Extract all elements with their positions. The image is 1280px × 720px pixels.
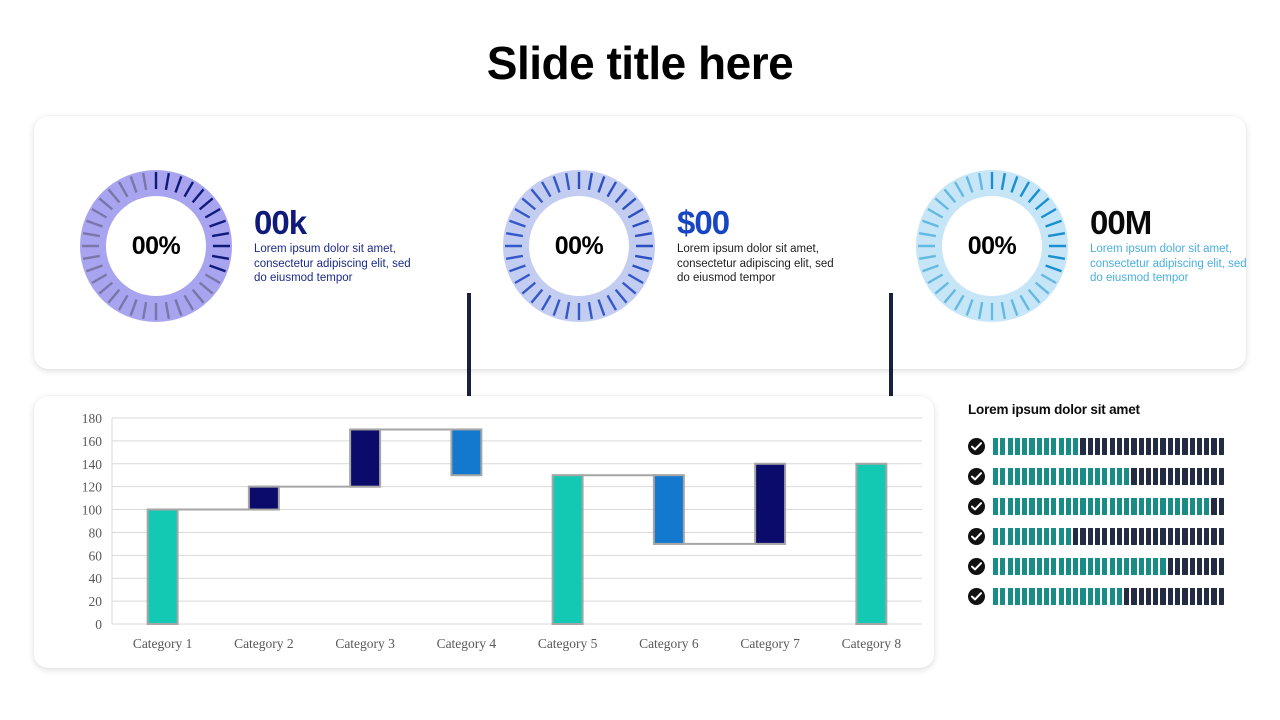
progress-segment: [993, 498, 998, 515]
y-axis-tick-label: 100: [82, 503, 103, 518]
x-axis-tick-label: Category 4: [437, 636, 497, 651]
progress-segment: [1153, 528, 1158, 545]
progress-segment: [1015, 498, 1020, 515]
progress-segment: [1175, 468, 1180, 485]
progress-segment: [1204, 528, 1209, 545]
progress-segment: [1073, 558, 1078, 575]
donut-percent-2: 00%: [499, 166, 659, 326]
progress-segment: [1153, 498, 1158, 515]
progress-segment: [1131, 498, 1136, 515]
progress-segment: [1139, 528, 1144, 545]
progress-segment: [1088, 558, 1093, 575]
progress-segment: [1029, 498, 1034, 515]
progress-segment: [1095, 528, 1100, 545]
progress-segment: [1022, 528, 1027, 545]
y-axis-tick-label: 40: [89, 571, 103, 586]
list-item[interactable]: [968, 581, 1224, 611]
progress-segment: [1168, 588, 1173, 605]
progress-segment: [1066, 588, 1071, 605]
progress-segment: [1139, 498, 1144, 515]
progress-segment: [1139, 588, 1144, 605]
progress-segment: [1160, 498, 1165, 515]
progress-segment: [1015, 468, 1020, 485]
progress-segment: [1015, 558, 1020, 575]
progress-segment: [993, 528, 998, 545]
list-item[interactable]: [968, 431, 1224, 461]
check-circle-icon: [968, 528, 985, 545]
progress-segment: [1175, 588, 1180, 605]
progress-segment: [1000, 558, 1005, 575]
progress-segment: [1182, 588, 1187, 605]
progress-segment: [1029, 438, 1034, 455]
progress-segment: [1051, 588, 1056, 605]
waterfall-chart[interactable]: 020406080100120140160180 Category 1Categ…: [34, 396, 934, 668]
progress-segment: [1022, 558, 1027, 575]
progress-segment: [1197, 588, 1202, 605]
progress-segment: [1124, 588, 1129, 605]
progress-segment: [1190, 528, 1195, 545]
progress-segment: [1146, 438, 1151, 455]
list-panel: Lorem ipsum dolor sit amet: [968, 402, 1224, 611]
progress-segment: [1211, 498, 1216, 515]
progress-segment: [1102, 438, 1107, 455]
progress-segment: [1204, 498, 1209, 515]
progress-segment: [1044, 588, 1049, 605]
progress-segment: [1160, 438, 1165, 455]
progress-segment: [1131, 468, 1136, 485]
progress-segment: [1066, 468, 1071, 485]
progress-segment: [1008, 438, 1013, 455]
donut-gauge-2: 00%: [499, 166, 659, 326]
progress-bar-track[interactable]: [993, 558, 1224, 575]
progress-segment: [1088, 588, 1093, 605]
progress-segment: [1088, 438, 1093, 455]
progress-segment: [1044, 438, 1049, 455]
x-axis-tick-label: Category 6: [639, 636, 699, 651]
chart-bar[interactable]: [148, 510, 178, 624]
progress-segment: [1051, 558, 1056, 575]
progress-segment: [1190, 498, 1195, 515]
progress-segment: [1139, 558, 1144, 575]
kpi-desc-1: Lorem ipsum dolor sit amet, consectetur …: [254, 242, 424, 286]
kpi-text-3: 00M Lorem ipsum dolor sit amet, consecte…: [1090, 206, 1260, 286]
progress-segment: [1182, 438, 1187, 455]
progress-segment: [1008, 498, 1013, 515]
progress-segment: [1182, 558, 1187, 575]
progress-segment: [1008, 558, 1013, 575]
progress-segment: [1080, 438, 1085, 455]
progress-segment: [1211, 558, 1216, 575]
progress-segment: [1059, 438, 1064, 455]
kpi-card: 00% 00k Lorem ipsum dolor sit amet, cons…: [34, 116, 1246, 369]
list-item[interactable]: [968, 551, 1224, 581]
progress-segment: [1066, 528, 1071, 545]
progress-segment: [1124, 468, 1129, 485]
donut-gauge-3: 00%: [912, 166, 1072, 326]
check-circle-icon: [968, 558, 985, 575]
progress-segment: [1197, 468, 1202, 485]
donut-percent-1: 00%: [76, 166, 236, 326]
progress-segment: [1044, 558, 1049, 575]
progress-segment: [1204, 468, 1209, 485]
progress-segment: [1175, 438, 1180, 455]
progress-segment: [1008, 468, 1013, 485]
progress-segment: [1175, 528, 1180, 545]
progress-segment: [1037, 588, 1042, 605]
progress-segment: [1160, 558, 1165, 575]
progress-segment: [1124, 438, 1129, 455]
progress-segment: [1211, 588, 1216, 605]
y-axis-tick-label: 180: [82, 411, 103, 426]
progress-segment: [1000, 438, 1005, 455]
chart-bar[interactable]: [451, 429, 481, 475]
progress-segment: [1066, 438, 1071, 455]
progress-segment: [1211, 438, 1216, 455]
x-axis-tick-label: Category 5: [538, 636, 598, 651]
progress-segment: [993, 558, 998, 575]
progress-segment: [1059, 558, 1064, 575]
kpi-value-2: $00: [677, 206, 847, 239]
list-item[interactable]: [968, 521, 1224, 551]
progress-segment: [1008, 588, 1013, 605]
progress-segment: [1088, 528, 1093, 545]
progress-segment: [1066, 558, 1071, 575]
check-circle-icon: [968, 438, 985, 455]
progress-segment: [1073, 498, 1078, 515]
progress-segment: [1095, 588, 1100, 605]
y-axis-tick-label: 80: [89, 525, 103, 540]
y-axis-tick-label: 60: [89, 548, 103, 563]
progress-segment: [1015, 588, 1020, 605]
progress-segment: [993, 588, 998, 605]
progress-bar-track[interactable]: [993, 468, 1224, 485]
chart-yaxis-labels: 020406080100120140160180: [82, 411, 103, 632]
progress-segment: [1117, 588, 1122, 605]
donut-percent-3: 00%: [912, 166, 1072, 326]
progress-segment: [1190, 468, 1195, 485]
progress-segment: [1131, 438, 1136, 455]
chart-bar[interactable]: [654, 475, 684, 544]
kpi-desc-3: Lorem ipsum dolor sit amet, consectetur …: [1090, 242, 1260, 286]
chart-bar[interactable]: [249, 487, 279, 510]
progress-segment: [1015, 438, 1020, 455]
progress-segment: [1000, 468, 1005, 485]
progress-segment: [1000, 528, 1005, 545]
progress-segment: [1080, 558, 1085, 575]
progress-segment: [1211, 468, 1216, 485]
progress-bar-track[interactable]: [993, 438, 1224, 455]
kpi-text-1: 00k Lorem ipsum dolor sit amet, consecte…: [254, 206, 424, 286]
progress-segment: [1219, 588, 1224, 605]
progress-segment: [1095, 438, 1100, 455]
progress-segment: [1131, 528, 1136, 545]
progress-segment: [1008, 528, 1013, 545]
progress-segment: [1219, 498, 1224, 515]
chart-bar[interactable]: [350, 429, 380, 486]
progress-segment: [1197, 498, 1202, 515]
progress-segment: [1037, 498, 1042, 515]
progress-segment: [1080, 528, 1085, 545]
chart-gridlines: [112, 418, 922, 624]
progress-segment: [1037, 438, 1042, 455]
progress-segment: [1219, 468, 1224, 485]
progress-segment: [1204, 438, 1209, 455]
kpi-desc-2: Lorem ipsum dolor sit amet, consectetur …: [677, 242, 847, 286]
progress-segment: [1110, 588, 1115, 605]
progress-segment: [1117, 528, 1122, 545]
progress-segment: [1190, 588, 1195, 605]
progress-segment: [1037, 468, 1042, 485]
progress-segment: [1168, 438, 1173, 455]
progress-segment: [1029, 528, 1034, 545]
progress-segment: [1066, 498, 1071, 515]
progress-segment: [1219, 528, 1224, 545]
progress-segment: [1117, 468, 1122, 485]
progress-segment: [1146, 468, 1151, 485]
progress-segment: [1044, 528, 1049, 545]
progress-segment: [1153, 438, 1158, 455]
progress-segment: [1168, 528, 1173, 545]
progress-segment: [1080, 468, 1085, 485]
progress-bar-track[interactable]: [993, 588, 1224, 605]
progress-segment: [1044, 468, 1049, 485]
progress-segment: [1088, 498, 1093, 515]
progress-segment: [1051, 528, 1056, 545]
x-axis-tick-label: Category 2: [234, 636, 294, 651]
slide-root: Slide title here 00% 00k Lorem ipsum dol…: [0, 0, 1280, 720]
progress-segment: [1211, 528, 1216, 545]
donut-gauge-1: 00%: [76, 166, 236, 326]
progress-segment: [993, 438, 998, 455]
progress-segment: [1117, 438, 1122, 455]
progress-segment: [1037, 558, 1042, 575]
x-axis-tick-label: Category 1: [133, 636, 193, 651]
progress-segment: [1059, 498, 1064, 515]
chart-bar[interactable]: [755, 464, 785, 544]
progress-segment: [1073, 468, 1078, 485]
progress-segment: [1175, 498, 1180, 515]
progress-segment: [1102, 558, 1107, 575]
x-axis-tick-label: Category 8: [842, 636, 902, 651]
chart-xaxis-labels: Category 1Category 2Category 3Category 4…: [133, 636, 902, 651]
kpi-block-3[interactable]: 00% 00M Lorem ipsum dolor sit amet, cons…: [912, 166, 1260, 326]
progress-segment: [1015, 528, 1020, 545]
progress-segment: [1102, 498, 1107, 515]
progress-segment: [1022, 498, 1027, 515]
progress-segment: [1059, 468, 1064, 485]
x-axis-tick-label: Category 3: [335, 636, 395, 651]
progress-segment: [1168, 468, 1173, 485]
y-axis-tick-label: 160: [82, 434, 103, 449]
progress-segment: [1029, 588, 1034, 605]
progress-segment: [1117, 558, 1122, 575]
progress-segment: [1110, 498, 1115, 515]
progress-segment: [1182, 528, 1187, 545]
progress-segment: [1051, 468, 1056, 485]
progress-segment: [1102, 588, 1107, 605]
progress-segment: [1080, 498, 1085, 515]
progress-segment: [993, 468, 998, 485]
progress-segment: [1110, 438, 1115, 455]
progress-segment: [1190, 438, 1195, 455]
progress-segment: [1204, 588, 1209, 605]
progress-segment: [1073, 528, 1078, 545]
progress-segment: [1139, 438, 1144, 455]
waterfall-chart-card: 020406080100120140160180 Category 1Categ…: [34, 396, 934, 668]
chart-bar[interactable]: [553, 475, 583, 624]
progress-segment: [1146, 498, 1151, 515]
list-rows-container: [968, 431, 1224, 611]
progress-segment: [1153, 588, 1158, 605]
progress-segment: [1197, 438, 1202, 455]
progress-segment: [1000, 588, 1005, 605]
chart-bar[interactable]: [856, 464, 886, 624]
list-panel-title: Lorem ipsum dolor sit amet: [968, 402, 1224, 417]
progress-segment: [1219, 558, 1224, 575]
progress-segment: [1095, 468, 1100, 485]
progress-segment: [1095, 558, 1100, 575]
progress-segment: [1117, 498, 1122, 515]
check-circle-icon: [968, 468, 985, 485]
progress-segment: [1029, 468, 1034, 485]
y-axis-tick-label: 0: [95, 617, 102, 632]
x-axis-tick-label: Category 7: [740, 636, 800, 651]
progress-segment: [1110, 468, 1115, 485]
progress-segment: [1044, 498, 1049, 515]
progress-segment: [1190, 558, 1195, 575]
progress-bar-track[interactable]: [993, 498, 1224, 515]
y-axis-tick-label: 120: [82, 480, 103, 495]
progress-segment: [1160, 468, 1165, 485]
progress-segment: [1182, 468, 1187, 485]
progress-segment: [1059, 528, 1064, 545]
progress-segment: [1037, 528, 1042, 545]
progress-segment: [1110, 528, 1115, 545]
kpi-value-1: 00k: [254, 206, 424, 239]
progress-bar-track[interactable]: [993, 528, 1224, 545]
progress-segment: [1153, 468, 1158, 485]
check-circle-icon: [968, 498, 985, 515]
kpi-block-1[interactable]: 00% 00k Lorem ipsum dolor sit amet, cons…: [76, 166, 424, 326]
progress-segment: [1110, 558, 1115, 575]
page-title: Slide title here: [0, 38, 1280, 89]
progress-segment: [1160, 528, 1165, 545]
progress-segment: [1102, 528, 1107, 545]
list-item[interactable]: [968, 491, 1224, 521]
list-item[interactable]: [968, 461, 1224, 491]
progress-segment: [1022, 438, 1027, 455]
progress-segment: [1197, 558, 1202, 575]
check-circle-icon: [968, 588, 985, 605]
progress-segment: [1219, 438, 1224, 455]
y-axis-tick-label: 140: [82, 457, 103, 472]
progress-segment: [1051, 438, 1056, 455]
progress-segment: [1073, 588, 1078, 605]
progress-segment: [1022, 588, 1027, 605]
progress-segment: [1124, 528, 1129, 545]
kpi-value-3: 00M: [1090, 206, 1260, 239]
progress-segment: [1146, 558, 1151, 575]
progress-segment: [1146, 528, 1151, 545]
progress-segment: [1124, 558, 1129, 575]
progress-segment: [1153, 558, 1158, 575]
progress-segment: [1146, 588, 1151, 605]
progress-segment: [1175, 558, 1180, 575]
progress-segment: [1139, 468, 1144, 485]
progress-segment: [1029, 558, 1034, 575]
progress-segment: [1022, 468, 1027, 485]
kpi-block-2[interactable]: 00% $00 Lorem ipsum dolor sit amet, cons…: [499, 166, 847, 326]
progress-segment: [1051, 498, 1056, 515]
chart-bars: [148, 429, 887, 624]
progress-segment: [1197, 528, 1202, 545]
progress-segment: [1131, 588, 1136, 605]
progress-segment: [1073, 438, 1078, 455]
progress-segment: [1088, 468, 1093, 485]
y-axis-tick-label: 20: [89, 594, 103, 609]
progress-segment: [1124, 498, 1129, 515]
progress-segment: [1102, 468, 1107, 485]
progress-segment: [1160, 588, 1165, 605]
progress-segment: [1168, 558, 1173, 575]
kpi-text-2: $00 Lorem ipsum dolor sit amet, consecte…: [677, 206, 847, 286]
progress-segment: [1080, 588, 1085, 605]
progress-segment: [1168, 498, 1173, 515]
progress-segment: [1000, 498, 1005, 515]
progress-segment: [1095, 498, 1100, 515]
progress-segment: [1059, 588, 1064, 605]
progress-segment: [1131, 558, 1136, 575]
progress-segment: [1204, 558, 1209, 575]
progress-segment: [1182, 498, 1187, 515]
